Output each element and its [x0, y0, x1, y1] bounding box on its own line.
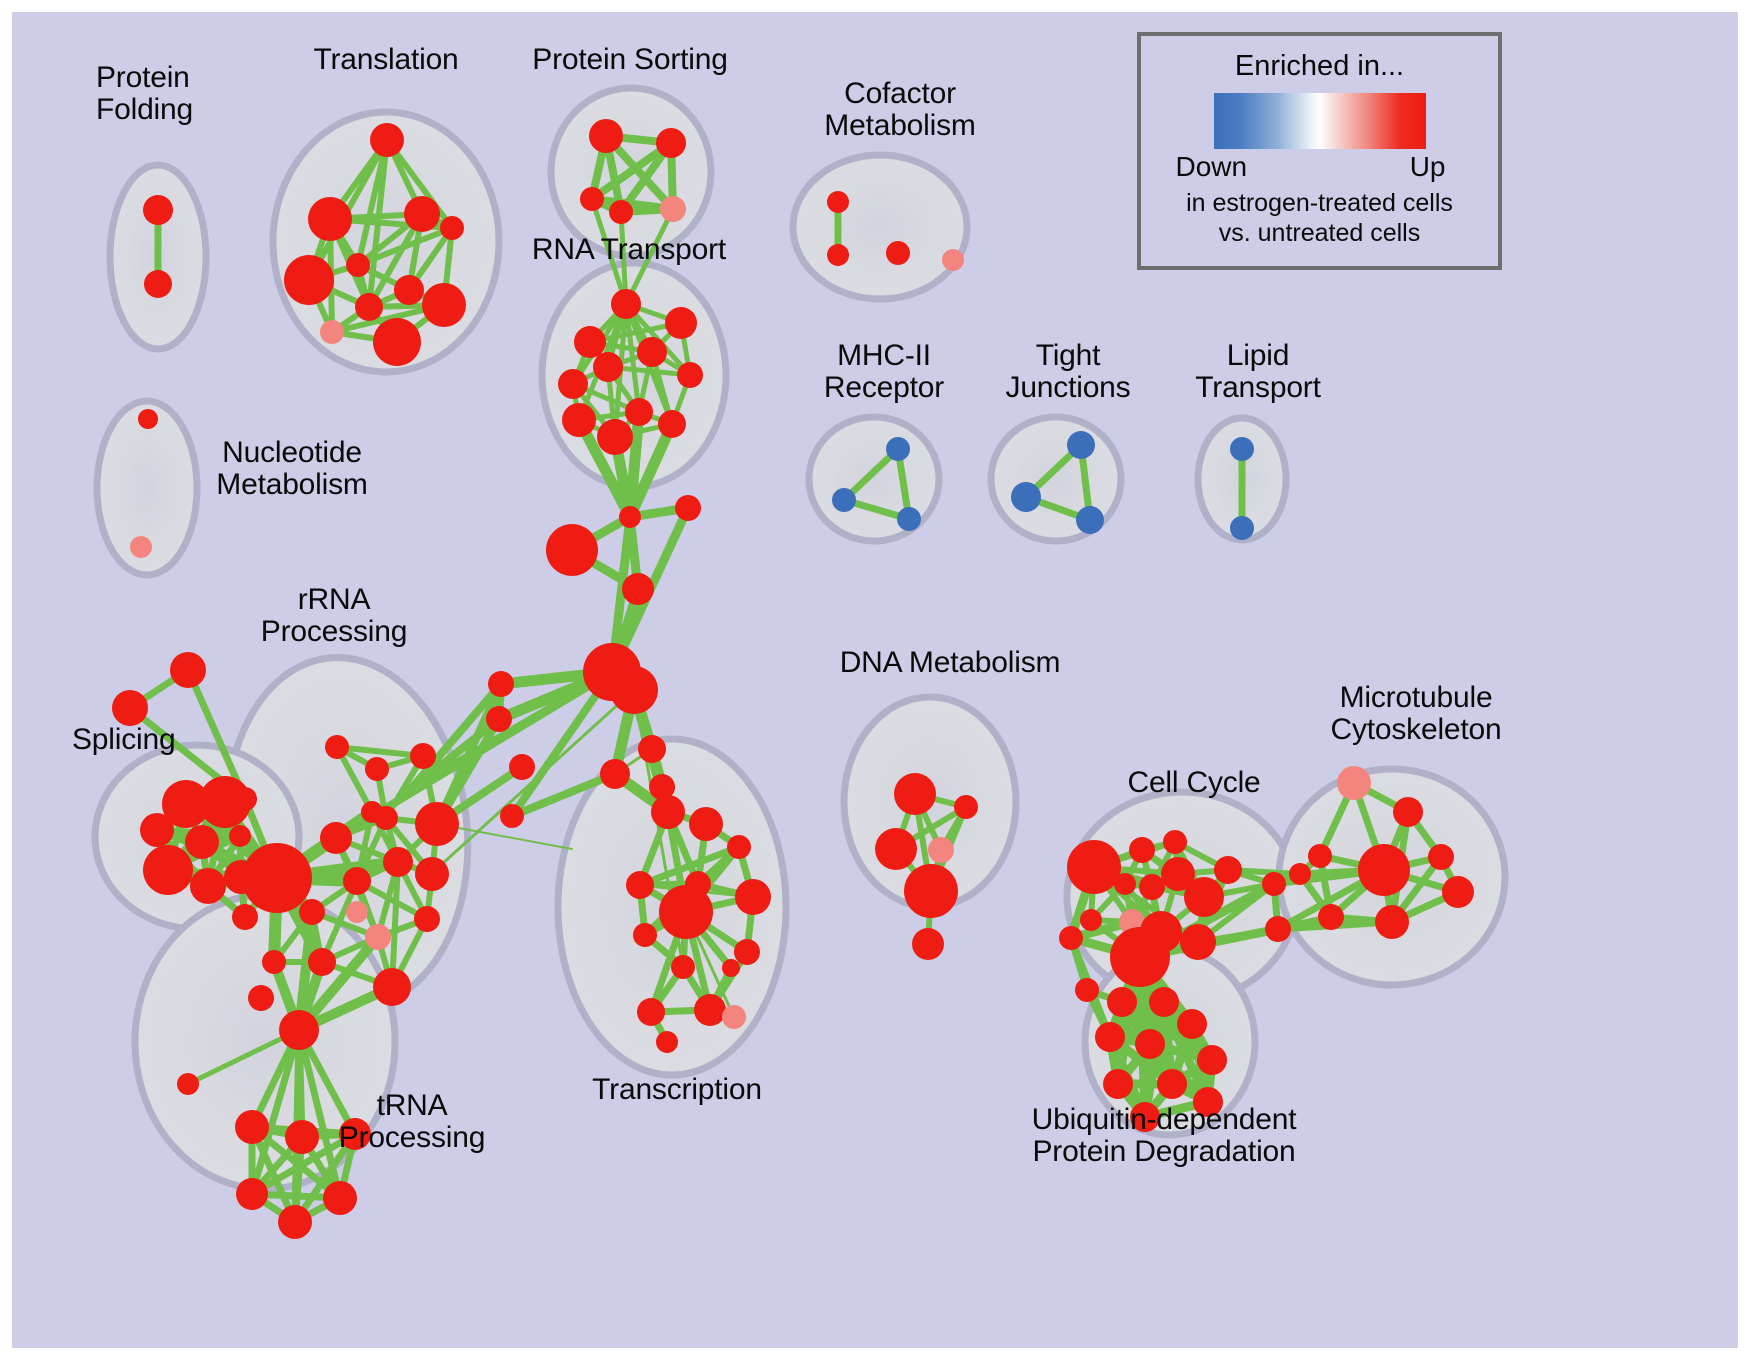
node [229, 825, 251, 847]
node [622, 573, 654, 605]
node [589, 119, 623, 153]
node [1230, 516, 1254, 540]
node [415, 802, 459, 846]
node [1157, 1069, 1187, 1099]
node [320, 320, 344, 344]
node [233, 787, 257, 811]
node [248, 985, 274, 1011]
node [1110, 927, 1170, 987]
node [143, 195, 173, 225]
cluster-label-microtubule-cytoskeleton: Microtubule Cytoskeleton [1330, 682, 1501, 746]
node [365, 757, 389, 781]
node [346, 901, 368, 923]
node [355, 293, 383, 321]
node [727, 835, 751, 859]
node [365, 924, 391, 950]
cluster-label-nucleotide-metabolism: Nucleotide Metabolism [216, 437, 367, 501]
node [625, 398, 653, 426]
cluster-label-transcription: Transcription [592, 1074, 762, 1106]
node [1428, 844, 1454, 870]
network-canvas: Protein Folding Translation Protein Sort… [12, 12, 1738, 1348]
node [232, 904, 258, 930]
cluster-label-dna-metabolism: DNA Metabolism [840, 647, 1061, 679]
node [440, 216, 464, 240]
node [735, 879, 771, 915]
node [665, 307, 697, 339]
node [170, 652, 206, 688]
cluster-label-mhc-ii-receptor: MHC-II Receptor [824, 340, 944, 404]
node [414, 906, 440, 932]
node [886, 241, 910, 265]
node [1114, 873, 1136, 895]
node [558, 369, 588, 399]
legend-title: Enriched in... [1141, 50, 1498, 83]
cluster-label-ubiquitin-protein-degradation: Ubiquitin-dependent Protein Degradation [1032, 1104, 1297, 1168]
cluster-label-cofactor-metabolism: Cofactor Metabolism [824, 78, 975, 142]
legend-down-label: Down [1176, 151, 1248, 183]
node [677, 362, 703, 388]
node [112, 690, 148, 726]
node [886, 437, 910, 461]
node [1076, 506, 1104, 534]
node [1067, 431, 1095, 459]
node [1393, 797, 1423, 827]
cluster-label-protein-folding: Protein Folding [96, 62, 193, 126]
node [1337, 766, 1371, 800]
node [1197, 1045, 1227, 1075]
node [1214, 856, 1242, 884]
node [285, 1120, 319, 1154]
node [279, 1010, 319, 1050]
node [1067, 840, 1121, 894]
cluster-label-splicing: Splicing [72, 724, 175, 756]
node [600, 759, 630, 789]
node [694, 994, 726, 1026]
node [410, 743, 436, 769]
cluster-label-tight-junctions: Tight Junctions [1006, 340, 1131, 404]
node [1184, 877, 1224, 917]
cluster-label-trna-processing: tRNA Processing [339, 1090, 485, 1154]
node [346, 253, 370, 277]
node [1139, 874, 1165, 900]
node [1308, 844, 1332, 868]
node [1107, 987, 1137, 1017]
legend-subtitle-line1: in estrogen-treated cells [1141, 189, 1498, 217]
node [827, 244, 849, 266]
cluster-label-translation: Translation [313, 44, 458, 76]
node [1129, 837, 1155, 863]
node [143, 845, 193, 895]
node [1289, 863, 1311, 885]
hull-cofactor-metabolism [793, 155, 967, 299]
node [894, 773, 936, 815]
node [415, 857, 449, 891]
node [1318, 904, 1344, 930]
node [1180, 924, 1216, 960]
node [325, 735, 349, 759]
node [626, 871, 654, 899]
legend-up-label: Up [1410, 151, 1446, 183]
node [832, 488, 856, 512]
node [875, 828, 917, 870]
node [422, 283, 466, 327]
node [361, 801, 383, 823]
node [235, 1110, 269, 1144]
node [593, 352, 623, 382]
cluster-label-rrna-processing: rRNA Processing [261, 584, 407, 648]
node [638, 735, 666, 763]
node [284, 255, 334, 305]
node [278, 1205, 312, 1239]
node [185, 825, 219, 859]
node [486, 706, 512, 732]
node [140, 813, 174, 847]
node [611, 289, 641, 319]
node [1442, 876, 1474, 908]
node [942, 249, 964, 271]
node [722, 1005, 746, 1029]
node [1163, 830, 1187, 854]
cluster-label-lipid-transport: Lipid Transport [1195, 340, 1320, 404]
node [130, 536, 152, 558]
node [1135, 1029, 1165, 1059]
node [637, 998, 665, 1026]
node [637, 337, 667, 367]
node [912, 928, 944, 960]
node [299, 899, 325, 925]
node [689, 807, 723, 841]
legend-color-gradient-bar [1214, 93, 1426, 149]
node [1103, 1069, 1133, 1099]
node [1149, 987, 1179, 1017]
legend-subtitle-line2: vs. untreated cells [1141, 219, 1498, 247]
node [619, 506, 641, 528]
node [144, 270, 172, 298]
node [675, 495, 701, 521]
node [928, 837, 954, 863]
node [509, 754, 535, 780]
node [370, 123, 404, 157]
node [373, 318, 421, 366]
node [897, 507, 921, 531]
node [394, 275, 424, 305]
node [609, 200, 633, 224]
enrichment-map-figure: Protein Folding Translation Protein Sort… [0, 0, 1750, 1360]
node [1095, 1022, 1125, 1052]
node [1358, 844, 1410, 896]
node [1177, 1009, 1207, 1039]
node [1262, 872, 1286, 896]
node [1075, 978, 1099, 1002]
cluster-label-cell-cycle: Cell Cycle [1127, 767, 1260, 799]
node [671, 955, 695, 979]
node [597, 419, 633, 455]
node [1265, 916, 1291, 942]
node [373, 968, 411, 1006]
node [383, 847, 413, 877]
node [656, 128, 686, 158]
node [904, 864, 958, 918]
node [177, 1073, 199, 1095]
node [659, 885, 713, 939]
cluster-label-protein-sorting: Protein Sorting [532, 44, 727, 76]
node [954, 795, 978, 819]
node [190, 868, 226, 904]
node [546, 524, 598, 576]
node [500, 804, 524, 828]
node [1080, 909, 1102, 931]
node [562, 403, 596, 437]
node [633, 923, 657, 947]
node [138, 409, 158, 429]
node [658, 410, 686, 438]
node [1230, 437, 1254, 461]
node [320, 822, 352, 854]
node [262, 950, 286, 974]
node [488, 671, 514, 697]
node [323, 1181, 357, 1215]
node [1059, 926, 1083, 950]
node [308, 948, 336, 976]
node [610, 666, 658, 714]
cluster-label-rna-transport: RNA Transport [532, 234, 726, 266]
node [574, 326, 606, 358]
node [236, 1178, 268, 1210]
node [651, 795, 685, 829]
node [1375, 905, 1409, 939]
node [343, 867, 371, 895]
node [734, 939, 760, 965]
node [722, 959, 740, 977]
node [656, 1031, 678, 1053]
node [660, 196, 686, 222]
legend-panel: Enriched in... Down Up in estrogen-treat… [1137, 32, 1502, 270]
node [404, 196, 440, 232]
node [580, 187, 604, 211]
node [1011, 482, 1041, 512]
node [308, 197, 352, 241]
node [827, 191, 849, 213]
node [242, 843, 312, 913]
